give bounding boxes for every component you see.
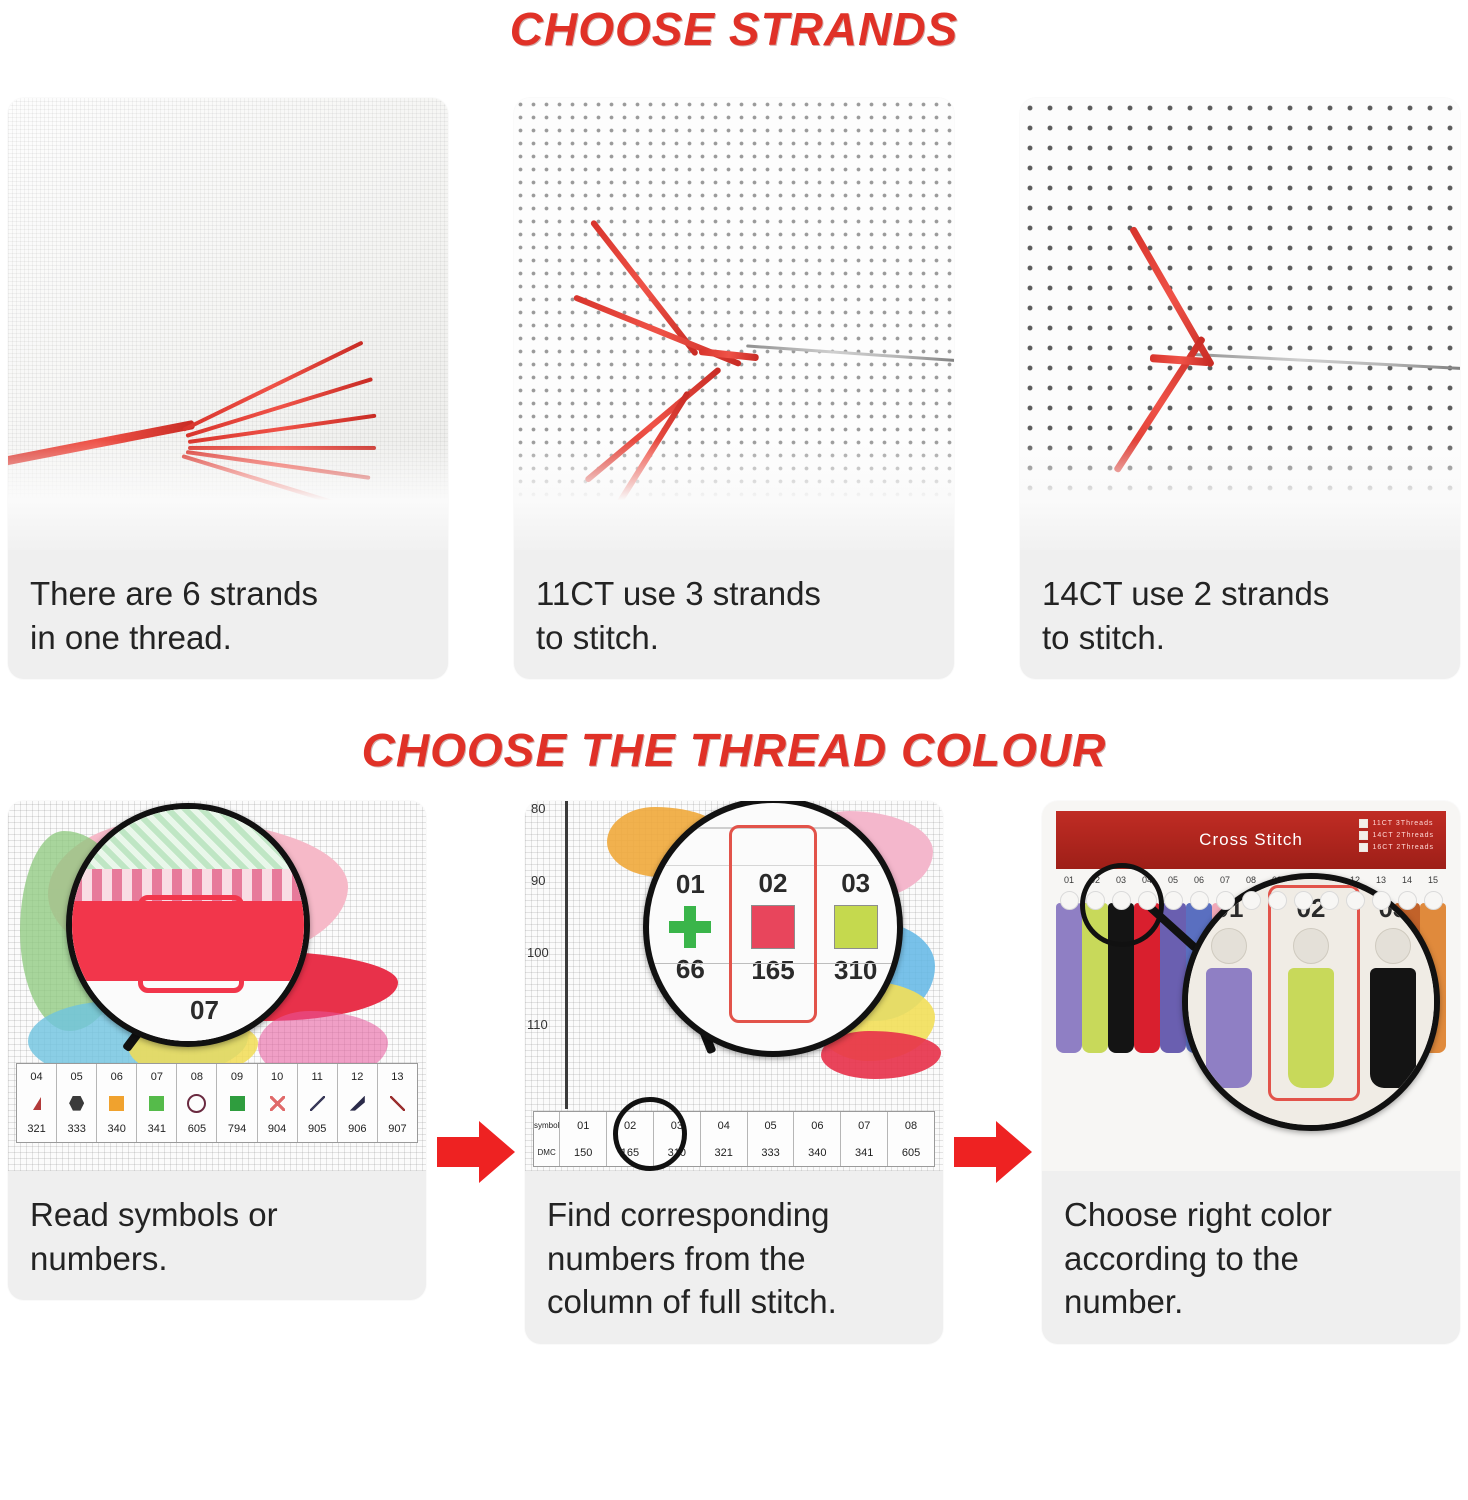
chart-axis-line — [565, 801, 568, 1109]
legend-table: 04 05 06 07 08 09 10 11 12 13 — [16, 1063, 418, 1143]
peg-hole-icon — [1268, 891, 1287, 910]
legend-col: 01 — [560, 1112, 607, 1139]
caption-line: There are 6 strands — [30, 572, 428, 616]
legend-table: symbol 01 02 03 04 05 06 07 08 DMC 150 1… — [533, 1111, 935, 1167]
peg-hole-icon — [1190, 891, 1209, 910]
caption-14ct: 14CT use 2 strands to stitch. — [1020, 550, 1460, 679]
square-symbol-icon — [230, 1096, 245, 1111]
legend-symbol-cell — [378, 1090, 417, 1116]
square-symbol-icon — [109, 1096, 124, 1111]
legend-code: 321 — [17, 1116, 57, 1142]
legend-code: 906 — [338, 1116, 378, 1142]
cross-symbol-icon — [270, 1096, 285, 1111]
legend-code: 907 — [378, 1116, 417, 1142]
hexagon-symbol-icon — [69, 1096, 84, 1111]
legend-col: 08 — [177, 1064, 217, 1090]
photo-fade — [514, 440, 954, 550]
photo-fade — [1020, 440, 1460, 550]
photo-chart-with-axis: 80 90 100 110 01 66 — [525, 801, 943, 1171]
column-number: 01 — [676, 869, 705, 900]
magnifier-highlight-box — [729, 825, 817, 1023]
legend-code: 150 — [560, 1139, 607, 1166]
magnifier-column-03: 03 310 — [814, 803, 897, 1051]
organizer-option[interactable]: 14CT 2Threads — [1359, 831, 1434, 840]
legend-symbol-cell — [258, 1090, 298, 1116]
plus-symbol-icon — [669, 906, 711, 948]
caption-six-strands: There are 6 strands in one thread. — [8, 550, 448, 679]
legend-code: 904 — [258, 1116, 298, 1142]
peg-hole-icon — [1112, 891, 1131, 910]
peg-hole-icon — [1086, 891, 1105, 910]
legend-symbol-cell — [177, 1090, 217, 1116]
legend-code: 340 — [97, 1116, 137, 1142]
legend-col: 06 — [97, 1064, 137, 1090]
legend-col: 07 — [841, 1112, 888, 1139]
magnifier-column-detail: 01 66 02 165 03 310 — [643, 801, 903, 1057]
square-symbol-icon — [149, 1096, 164, 1111]
strands-card-row: There are 6 strands in one thread. 11CT … — [0, 98, 1468, 679]
photo-fade — [8, 440, 448, 550]
organizer-options: 11CT 3Threads 14CT 2Threads 16CT 2Thread… — [1359, 819, 1434, 852]
peg-hole-icon — [1216, 891, 1235, 910]
color-swatch — [834, 905, 878, 949]
thread-skein — [1056, 893, 1082, 1165]
legend-symbol-cell — [298, 1090, 338, 1116]
legend-symbol-cell — [137, 1090, 177, 1116]
legend-col: 11 — [298, 1064, 338, 1090]
legend-col: 12 — [338, 1064, 378, 1090]
caption-line: Choose right color — [1064, 1193, 1440, 1237]
caption-choose-color: Choose right color according to the numb… — [1042, 1171, 1460, 1344]
photo-11ct — [514, 98, 954, 550]
backslash-symbol-icon — [310, 1096, 325, 1111]
peg-hole-icon — [1060, 891, 1079, 910]
peg-hole-icon — [1242, 891, 1261, 910]
legend-symbol-cell — [217, 1090, 257, 1116]
column-number: 03 — [841, 868, 870, 899]
caption-line: 14CT use 2 strands — [1042, 572, 1440, 616]
caret-symbol-icon — [390, 1096, 405, 1111]
magnifier-highlight-box — [1268, 885, 1360, 1101]
legend-code: 341 — [137, 1116, 177, 1142]
magnifier-column-label: 07 — [190, 995, 219, 1026]
page-title-choose-thread-colour: CHOOSE THE THREAD COLOUR — [0, 725, 1468, 773]
caption-line: in one thread. — [30, 616, 428, 660]
page-title-choose-strands: CHOOSE STRANDS — [0, 0, 1468, 52]
legend-code: 605 — [888, 1139, 934, 1166]
card-six-strands: There are 6 strands in one thread. — [8, 98, 448, 679]
caption-line: 11CT use 3 strands — [536, 572, 934, 616]
arrow-right-icon-2 — [954, 1121, 1032, 1183]
magnifier-thread-01: 01 — [1188, 893, 1270, 1088]
legend-col: 10 — [258, 1064, 298, 1090]
arrow-right-icon-1 — [437, 1121, 515, 1183]
axis-label: 90 — [531, 873, 545, 888]
magnifier-pattern: 07 — [66, 803, 310, 1047]
card-14ct: 14CT use 2 strands to stitch. — [1020, 98, 1460, 679]
legend-code: 905 — [298, 1116, 338, 1142]
caption-line: number. — [1064, 1280, 1440, 1324]
legend-col: 04 — [17, 1064, 57, 1090]
legend-row-columns: 04 05 06 07 08 09 10 11 12 13 — [17, 1064, 417, 1090]
legend-col: 13 — [378, 1064, 417, 1090]
legend-symbol-cell — [17, 1090, 57, 1116]
legend-col: 05 — [57, 1064, 97, 1090]
peg-hole-icon — [1164, 891, 1183, 910]
legend-col: 09 — [217, 1064, 257, 1090]
legend-code: 321 — [701, 1139, 748, 1166]
legend-code: 605 — [177, 1116, 217, 1142]
legend-code: 333 — [57, 1116, 97, 1142]
caption-11ct: 11CT use 3 strands to stitch. — [514, 550, 954, 679]
peg-hole-icon — [1294, 891, 1313, 910]
caption-line: Find corresponding — [547, 1193, 923, 1237]
card-find-numbers: 80 90 100 110 01 66 — [525, 801, 943, 1344]
column-code: 310 — [834, 955, 877, 986]
legend-symbol-cell — [338, 1090, 378, 1116]
thread-skein — [1370, 968, 1416, 1088]
colour-card-row: 24 07 04 05 06 07 08 09 — [0, 801, 1468, 1344]
magnifier-highlight-box — [138, 895, 244, 993]
caption-find-numbers: Find corresponding numbers from the colu… — [525, 1171, 943, 1344]
photo-thread-organizer: Cross Stitch 11CT 3Threads 14CT 2Threads — [1042, 801, 1460, 1171]
legend-row-symbols — [17, 1090, 417, 1116]
organizer-option[interactable]: 11CT 3Threads — [1359, 819, 1434, 828]
peg-hole-icon — [1320, 891, 1339, 910]
magnifier-column-01: 01 66 — [649, 803, 732, 1051]
axis-label: 110 — [527, 1017, 548, 1032]
photo-14ct — [1020, 98, 1460, 550]
legend-code: 340 — [794, 1139, 841, 1166]
caption-line: column of full stitch. — [547, 1280, 923, 1324]
card-choose-color: Cross Stitch 11CT 3Threads 14CT 2Threads — [1042, 801, 1460, 1344]
thread-organizer-board: Cross Stitch 11CT 3Threads 14CT 2Threads — [1042, 801, 1460, 1171]
legend-row-codes: 321 333 340 341 605 794 904 905 906 907 — [17, 1116, 417, 1142]
magnifier-thread-detail: 01 02 03 — [1182, 873, 1440, 1131]
checkbox-icon[interactable] — [1359, 843, 1368, 852]
legend-col: 05 — [748, 1112, 795, 1139]
caption-read-symbols: Read symbols or numbers. — [8, 1171, 426, 1300]
peg-hole-icon — [1375, 928, 1411, 964]
organizer-option-label: 16CT 2Threads — [1372, 844, 1434, 851]
triangle-symbol-icon — [33, 1097, 41, 1110]
caption-line: according to the — [1064, 1237, 1440, 1281]
organizer-header: Cross Stitch 11CT 3Threads 14CT 2Threads — [1056, 811, 1446, 869]
checkbox-icon[interactable] — [1359, 819, 1368, 828]
legend-symbol-cell — [97, 1090, 137, 1116]
peg-hole-icon — [1424, 891, 1443, 910]
peg-hole-icon — [1346, 891, 1365, 910]
caption-line: numbers from the — [547, 1237, 923, 1281]
caption-line: Read symbols or — [30, 1193, 406, 1237]
organizer-option-label: 14CT 2Threads — [1372, 832, 1434, 839]
photo-pattern-chart: 24 07 04 05 06 07 08 09 — [8, 801, 426, 1171]
legend-code: 333 — [748, 1139, 795, 1166]
peg-hole-icon — [1211, 928, 1247, 964]
axis-label: 100 — [527, 945, 549, 960]
photo-six-strands — [8, 98, 448, 550]
card-11ct: 11CT use 3 strands to stitch. — [514, 98, 954, 679]
legend-col: 06 — [794, 1112, 841, 1139]
peg-hole-icon — [1398, 891, 1417, 910]
peg-hole-icon — [1372, 891, 1391, 910]
card-read-symbols: 24 07 04 05 06 07 08 09 — [8, 801, 426, 1300]
caption-line: to stitch. — [536, 616, 934, 660]
checkbox-icon[interactable] — [1359, 831, 1368, 840]
magnifier-source-circle — [613, 1097, 687, 1171]
thread-skein — [1206, 968, 1252, 1088]
organizer-title: Cross Stitch — [1199, 830, 1303, 850]
legend-col: 08 — [888, 1112, 934, 1139]
axis-label: 80 — [531, 801, 545, 816]
legend-col: 07 — [137, 1064, 177, 1090]
organizer-option[interactable]: 16CT 2Threads — [1359, 843, 1434, 852]
legend-row-label: symbol — [534, 1112, 560, 1139]
legend-symbol-cell — [57, 1090, 97, 1116]
leaf-symbol-icon — [350, 1096, 365, 1111]
caption-line: to stitch. — [1042, 616, 1440, 660]
column-code: 66 — [676, 954, 705, 985]
legend-code: 794 — [217, 1116, 257, 1142]
legend-code: 341 — [841, 1139, 888, 1166]
peg-hole-icon — [1138, 891, 1157, 910]
legend-row-columns: symbol 01 02 03 04 05 06 07 08 — [534, 1112, 934, 1139]
organizer-option-label: 11CT 3Threads — [1372, 820, 1433, 827]
caption-line: numbers. — [30, 1237, 406, 1281]
legend-col: 04 — [701, 1112, 748, 1139]
legend-row-label: DMC — [534, 1139, 560, 1166]
circle-outline-symbol-icon — [187, 1094, 206, 1113]
magnifier-thread-03: 03 — [1352, 893, 1434, 1088]
legend-row-codes: DMC 150 165 310 321 333 340 341 605 — [534, 1139, 934, 1166]
